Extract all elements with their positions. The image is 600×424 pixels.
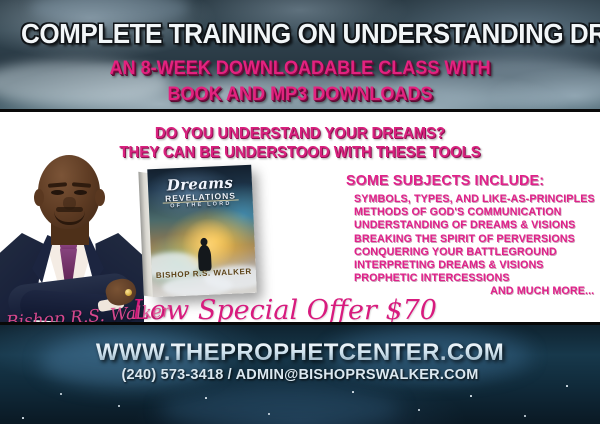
header-subtitle-line2: BOOK AND MP3 DOWNLOADS: [15, 84, 585, 106]
page-title: COMPLETE TRAINING ON UNDERSTANDING DREAM…: [21, 18, 579, 50]
book-product-image: Dreams REVELATIONS OF THE LORD BISHOP R.…: [147, 165, 256, 297]
subjects-list: SYMBOLS, TYPES, AND LIKE-AS-PRINCIPLES M…: [354, 193, 600, 299]
star-icon: [205, 397, 207, 399]
eye-left: [51, 190, 64, 195]
footer-banner: WWW.THEPROPHETCENTER.COM (240) 573-3418 …: [0, 322, 600, 424]
star-icon: [566, 385, 568, 387]
ear-right: [95, 189, 105, 206]
star-icon: [470, 395, 472, 397]
book-cover: Dreams REVELATIONS OF THE LORD BISHOP R.…: [147, 165, 256, 297]
list-item: BREAKING THE SPIRIT OF PERVERSIONS: [354, 233, 590, 246]
list-item: PROPHETIC INTERCESSIONS: [354, 272, 590, 285]
star-icon: [418, 409, 420, 411]
star-icon: [118, 405, 120, 407]
eye-right: [74, 190, 87, 195]
nebula-glow: [160, 387, 400, 424]
gold-ring-icon: [125, 289, 132, 296]
main-content: DO YOU UNDERSTAND YOUR DREAMS? THEY CAN …: [0, 115, 600, 322]
star-icon: [352, 391, 354, 393]
list-item: INTERPRETING DREAMS & VISIONS: [354, 259, 590, 272]
list-item: METHODS OF GOD'S COMMUNICATION: [354, 206, 590, 219]
speaker-portrait: [0, 153, 146, 322]
website-url[interactable]: WWW.THEPROPHETCENTER.COM: [0, 339, 600, 367]
star-icon: [524, 415, 526, 417]
promo-flyer: COMPLETE TRAINING ON UNDERSTANDING DREAM…: [0, 0, 600, 424]
contact-info[interactable]: (240) 573-3418 / ADMIN@BISHOPRSWALKER.CO…: [0, 367, 600, 383]
header-subtitle-line1: AN 8-WEEK DOWNLOADABLE CLASS WITH: [15, 58, 585, 80]
list-item-more: AND MUCH MORE...: [364, 285, 600, 298]
list-item: UNDERSTANDING OF DREAMS & VISIONS: [354, 219, 590, 232]
header-banner: COMPLETE TRAINING ON UNDERSTANDING DREAM…: [0, 0, 600, 112]
list-item: SYMBOLS, TYPES, AND LIKE-AS-PRINCIPLES: [354, 193, 590, 206]
ear-left: [34, 189, 44, 206]
star-icon: [22, 417, 24, 419]
list-item: CONQUERING YOUR BATTLEGROUND: [354, 246, 590, 259]
silhouette-figure-icon: [198, 245, 212, 272]
subjects-heading: SOME SUBJECTS INCLUDE:: [346, 172, 544, 189]
price-offer: Low Special Offer $70: [132, 295, 437, 322]
hook-line1: DO YOU UNDERSTAND YOUR DREAMS?: [12, 125, 588, 143]
star-icon: [268, 413, 270, 415]
star-icon: [60, 393, 62, 395]
